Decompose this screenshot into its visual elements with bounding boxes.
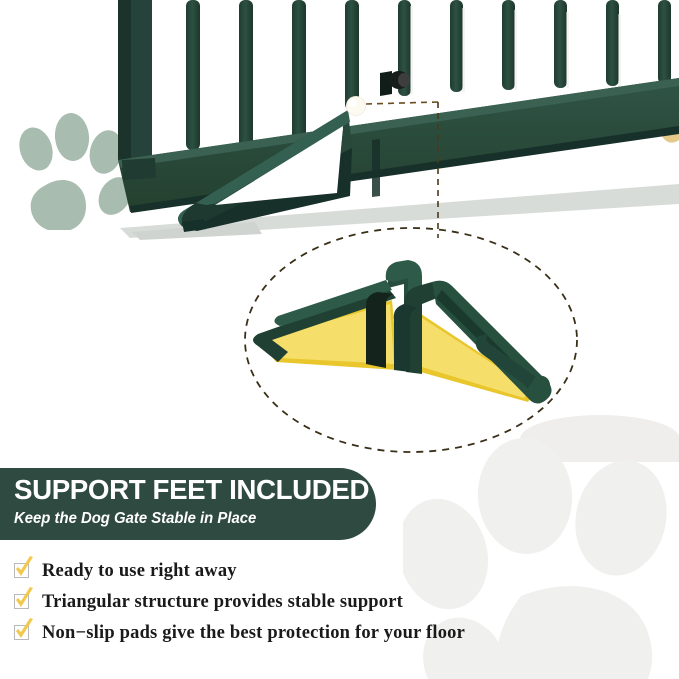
banner: SUPPORT FEET INCLUDED Keep the Dog Gate … — [0, 468, 376, 540]
banner-subheadline: Keep the Dog Gate Stable in Place — [14, 509, 351, 529]
check-icon — [13, 587, 37, 613]
list-item: Triangular structure provides stable sup… — [14, 587, 664, 617]
product-photo — [0, 0, 679, 462]
list-item-label: Triangular structure provides stable sup… — [42, 592, 403, 613]
list-item: Ready to use right away — [14, 556, 664, 586]
gate-knob — [346, 96, 366, 116]
checkbox-checked — [14, 625, 31, 642]
feature-list: Ready to use right away Triangular struc… — [14, 556, 664, 649]
check-icon — [13, 618, 37, 644]
checkbox-checked — [14, 594, 31, 611]
product-infographic: SUPPORT FEET INCLUDED Keep the Dog Gate … — [0, 0, 679, 679]
dog-gate — [0, 0, 679, 240]
list-item-label: Non−slip pads give the best protection f… — [42, 623, 465, 644]
banner-headline: SUPPORT FEET INCLUDED — [14, 474, 372, 506]
list-item: Non−slip pads give the best protection f… — [14, 618, 664, 648]
check-icon — [13, 556, 37, 582]
list-item-label: Ready to use right away — [42, 561, 237, 582]
checkbox-checked — [14, 563, 31, 580]
